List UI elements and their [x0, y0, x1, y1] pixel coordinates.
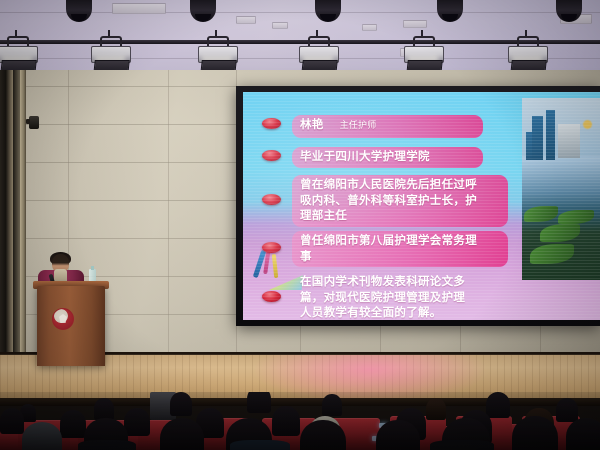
- audience-head: [60, 410, 86, 438]
- audience-head: [556, 398, 578, 422]
- audience-shoulders: [230, 440, 290, 450]
- bullet-dot-icon: [262, 150, 281, 161]
- bullet-dot-icon: [262, 242, 281, 253]
- audience-head: [566, 418, 600, 450]
- ceiling-vent: [403, 20, 427, 28]
- audience-head: [247, 392, 271, 413]
- bullet-text-box: 曾在绵阳市人民医院先后担任过呼 吸内科、普外科等科室护士长，护 理部主任: [292, 175, 508, 227]
- presentation-screen[interactable]: 林艳 主任护师 毕业于四川大学护理学院 曾在绵阳市人民医院先后担任过呼 吸内科、…: [243, 92, 600, 320]
- audience-head: [94, 398, 114, 420]
- bullet-text-box: 毕业于四川大学护理学院: [292, 147, 483, 168]
- audience-head: [486, 392, 510, 418]
- wall-mounted-speaker: [29, 116, 39, 129]
- lighting-truss: [0, 40, 600, 44]
- bullet-dot-icon: [262, 291, 281, 302]
- ceiling-vent: [272, 22, 288, 29]
- audience-head: [512, 416, 558, 450]
- audience-head: [160, 418, 204, 450]
- lecture-hall-photo: 林艳 主任护师 毕业于四川大学护理学院 曾在绵阳市人民医院先后担任过呼 吸内科、…: [0, 0, 600, 450]
- bullet-role: 主任护师: [340, 119, 377, 135]
- audience-head-with-cap: [22, 422, 62, 450]
- bullet-dot-icon: [262, 118, 281, 129]
- bullet-name: 林艳: [300, 117, 324, 133]
- ceiling-vent: [362, 24, 377, 31]
- audience-head: [426, 398, 446, 420]
- slide-bullet-item: 曾在绵阳市人民医院先后担任过呼 吸内科、普外科等科室护士长，护 理部主任: [262, 175, 508, 227]
- bullet-text-box: 在国内学术刊物发表科研论文多 篇，对现代医院护理管理及护理 人员教学有较全面的了…: [292, 272, 508, 320]
- ceiling-vent: [236, 16, 256, 24]
- institution-emblem: [52, 308, 74, 330]
- audience-head: [272, 406, 300, 436]
- bullet-dot-icon: [262, 194, 281, 205]
- slide-bullet-item: 林艳 主任护师: [262, 115, 483, 138]
- audience-head: [322, 394, 342, 416]
- slide-bullet-item: 在国内学术刊物发表科研论文多 篇，对现代医院护理管理及护理 人员教学有较全面的了…: [262, 272, 508, 320]
- column-shadow: [13, 70, 20, 370]
- audience-shoulders: [78, 440, 136, 450]
- bullet-text-box: 曾任绵阳市第八届护理学会常务理 事: [292, 231, 508, 267]
- slide-bullet-item: 曾任绵阳市第八届护理学会常务理 事: [262, 231, 508, 267]
- ceiling-vent: [112, 3, 166, 14]
- audience-head: [124, 408, 150, 436]
- bullet-text-box: 林艳 主任护师: [292, 115, 483, 138]
- audience-shoulders: [430, 440, 494, 450]
- audience-head: [170, 392, 192, 416]
- audience-area: [0, 392, 600, 450]
- audience-head: [0, 408, 24, 434]
- slide-bullet-list: 林艳 主任护师 毕业于四川大学护理学院 曾在绵阳市人民医院先后担任过呼 吸内科、…: [243, 92, 600, 320]
- slide-bullet-item: 毕业于四川大学护理学院: [262, 147, 483, 168]
